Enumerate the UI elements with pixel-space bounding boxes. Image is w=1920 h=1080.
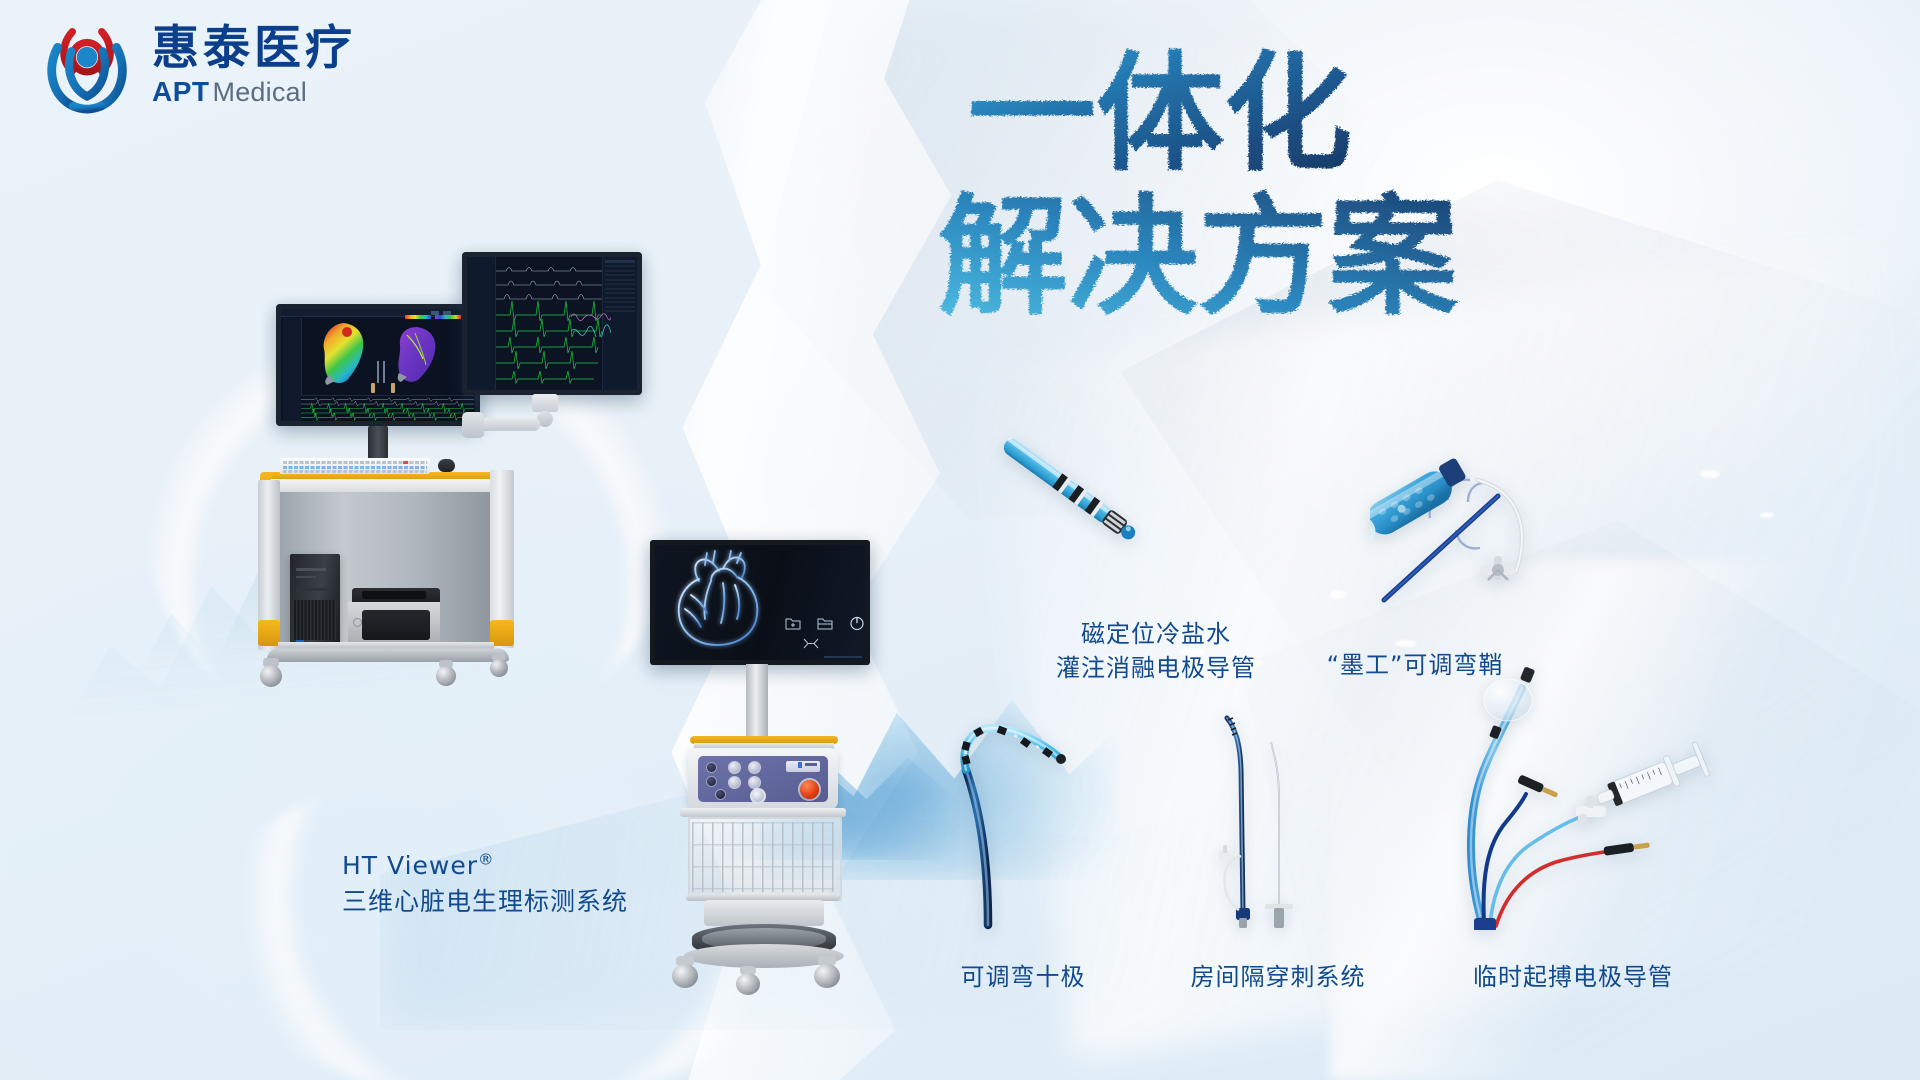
mapping-monitor[interactable] — [276, 304, 480, 426]
logo-apt-text: APT — [152, 76, 210, 108]
heart-display-monitor[interactable] — [650, 540, 870, 665]
label-transseptal-puncture-system: 房间隔穿刺系统 — [1168, 960, 1388, 994]
label-irrigated-ablation-catheter: 磁定位冷盐水 灌注消融电极导管 — [1046, 617, 1266, 685]
ht-viewer-subtitle: 三维心脏电生理标测系统 — [342, 884, 628, 920]
ht-viewer-label: HT Viewer® 三维心脏电生理标测系统 — [342, 848, 628, 919]
stimulator-console[interactable] — [688, 748, 838, 810]
cart-pedestal — [674, 900, 854, 996]
label-decapolar-catheter: 可调弯十极 — [933, 960, 1113, 994]
trademark-symbol: ® — [478, 851, 495, 869]
pc-tower — [290, 554, 340, 646]
label-line-1: 临时起搏电极导管 — [1448, 960, 1698, 994]
workstation-cart — [258, 492, 514, 674]
product-irrigated-ablation-catheter — [980, 430, 1170, 560]
logo-chinese-name: 惠泰医疗 — [152, 24, 356, 74]
poster-canvas: 惠泰医疗 APT Medical — [0, 0, 1920, 1080]
cart-base — [254, 648, 522, 688]
label-line-1: 磁定位冷盐水 — [1046, 617, 1266, 651]
printer — [348, 588, 440, 646]
headline-line2: 解决方案 — [938, 180, 1459, 333]
label-temporary-pacing-catheter: 临时起搏电极导管 — [1448, 960, 1698, 994]
brand-logo[interactable]: 惠泰医疗 APT Medical — [40, 18, 356, 114]
label-line-1: 房间隔穿刺系统 — [1168, 960, 1388, 994]
stimulator-cart — [640, 540, 900, 1040]
ecg-monitor[interactable] — [462, 252, 642, 395]
ht-viewer-name: HT Viewer — [342, 851, 478, 880]
cart-basket — [680, 808, 846, 904]
product-temporary-pacing-catheter — [1460, 660, 1750, 930]
red-emergency-button[interactable] — [800, 780, 819, 799]
product-decapolar-catheter — [930, 700, 1110, 930]
logo-medical-text: Medical — [213, 77, 307, 108]
keyboard[interactable] — [280, 458, 431, 474]
headline-line1: 一体化 — [968, 39, 1352, 189]
apt-medical-heart-logo — [40, 18, 138, 114]
console-panel[interactable] — [698, 756, 828, 802]
product-steerable-sheath — [1370, 430, 1670, 620]
label-line-1: 可调弯十极 — [933, 960, 1113, 994]
product-transseptal-puncture-system — [1195, 680, 1375, 930]
headline-calligraphy: 一体化 解决方案 — [960, 40, 1640, 360]
display-pole — [746, 664, 768, 740]
monitor-arm — [518, 394, 574, 440]
mouse[interactable] — [438, 459, 455, 472]
